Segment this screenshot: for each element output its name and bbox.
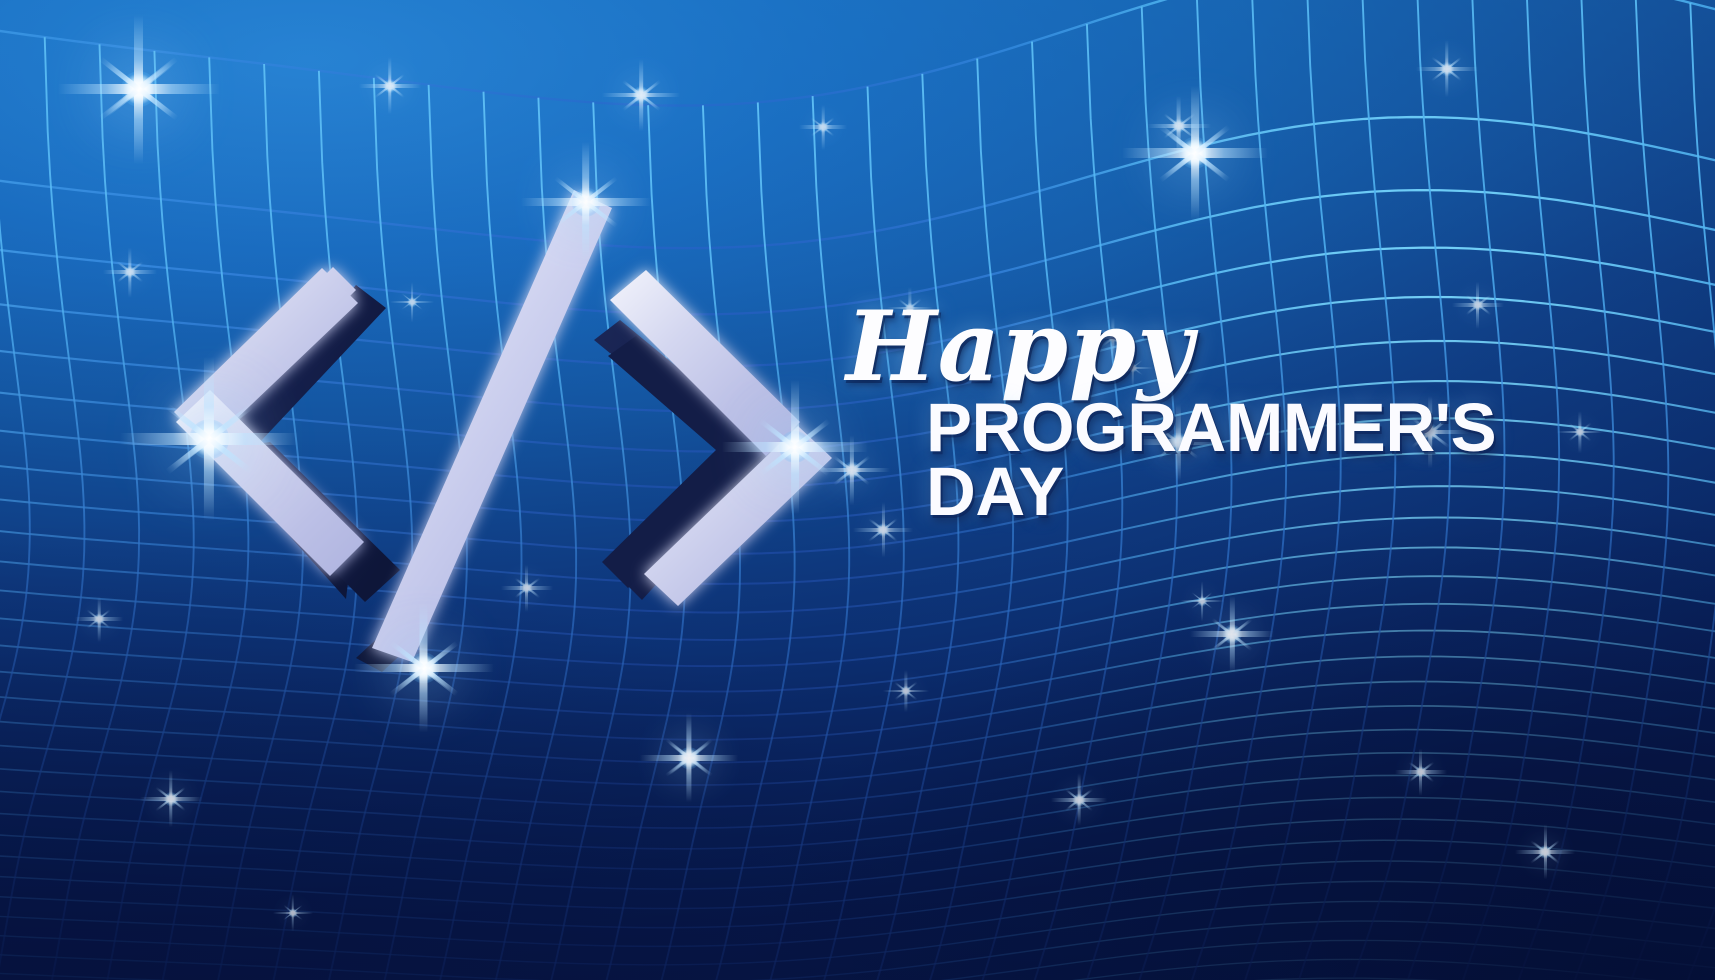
headline-block: Happy PROGRAMMER'S DAY	[836, 300, 1636, 524]
code-brackets-3d-icon	[150, 150, 850, 770]
headline-line-day: DAY	[926, 459, 1636, 525]
slash-face	[372, 190, 612, 662]
headline-line-happy: Happy	[846, 300, 1636, 394]
poster-canvas: Happy PROGRAMMER'S DAY	[0, 0, 1715, 980]
headline-line-programmers: PROGRAMMER'S	[926, 398, 1636, 459]
